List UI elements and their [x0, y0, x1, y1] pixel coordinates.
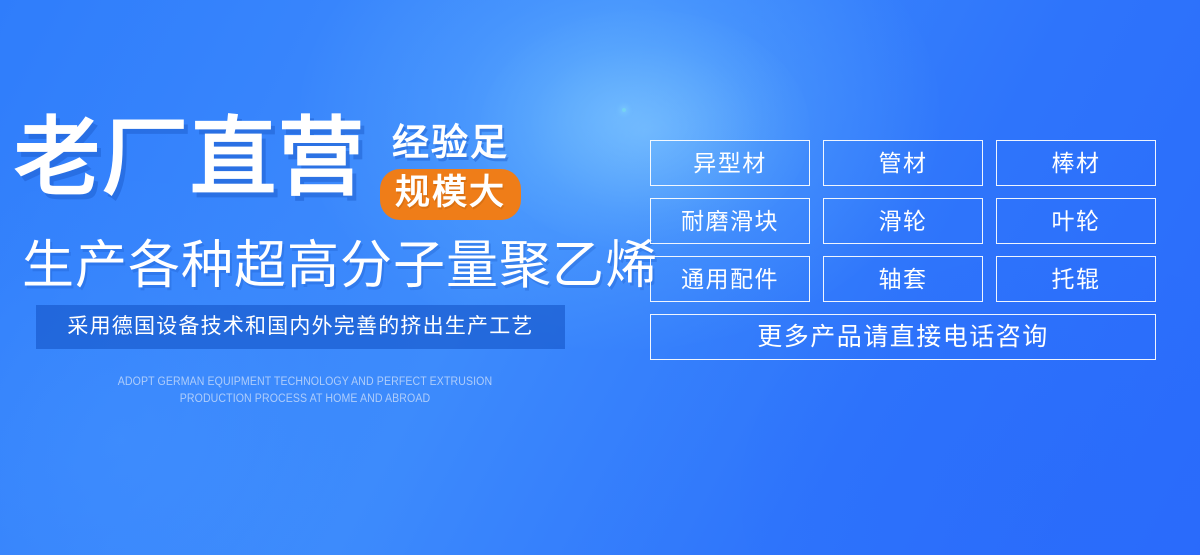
product-button-naimohuakuai[interactable]: 耐磨滑块: [650, 198, 810, 244]
product-button-hualun[interactable]: 滑轮: [823, 198, 983, 244]
headline-main: 老厂直营: [14, 112, 366, 204]
headline-block: 老厂直营 经验足 规模大 生产各种超高分子量聚乙烯 采用德国设备技术和国内外完善…: [0, 0, 610, 555]
product-label: 叶轮: [1052, 208, 1101, 234]
badge-group: 经验足 规模大: [380, 122, 521, 220]
product-label: 棒材: [1052, 150, 1101, 176]
badge-scale: 规模大: [380, 169, 521, 220]
product-label: 管材: [879, 150, 928, 176]
product-button-tuogun[interactable]: 托辊: [996, 256, 1156, 302]
product-label: 异型材: [693, 150, 767, 176]
product-label: 滑轮: [879, 208, 928, 234]
product-label: 耐磨滑块: [681, 208, 779, 234]
product-label: 轴套: [879, 266, 928, 292]
product-button-tongyongpeijian[interactable]: 通用配件: [650, 256, 810, 302]
product-button-zhoutao[interactable]: 轴套: [823, 256, 983, 302]
english-tagline-line2: PRODUCTION PROCESS AT HOME AND ABROAD: [24, 391, 585, 408]
headline-subtitle: 生产各种超高分子量聚乙烯: [22, 236, 658, 296]
product-button-yelun[interactable]: 叶轮: [996, 198, 1156, 244]
product-button-guancai[interactable]: 管材: [823, 140, 983, 186]
tagline-text: 采用德国设备技术和国内外完善的挤出生产工艺: [67, 315, 533, 339]
product-button-bangcai[interactable]: 棒材: [996, 140, 1156, 186]
product-grid: 异型材 管材 棒材 耐磨滑块 滑轮 叶轮 通用配件: [650, 140, 1156, 360]
english-tagline-line1: ADOPT GERMAN EQUIPMENT TECHNOLOGY AND PE…: [24, 374, 585, 391]
product-row: 耐磨滑块 滑轮 叶轮: [650, 198, 1156, 244]
product-label: 托辊: [1052, 266, 1101, 292]
promo-banner: 老厂直营 经验足 规模大 生产各种超高分子量聚乙烯 采用德国设备技术和国内外完善…: [0, 0, 1200, 555]
product-row: 异型材 管材 棒材: [650, 140, 1156, 186]
product-row-footer: 更多产品请直接电话咨询: [650, 314, 1156, 360]
more-products-label: 更多产品请直接电话咨询: [757, 323, 1049, 351]
badge-experience: 经验足: [392, 122, 509, 164]
english-tagline: ADOPT GERMAN EQUIPMENT TECHNOLOGY AND PE…: [24, 374, 585, 408]
headline-row: 老厂直营 经验足 规模大: [14, 112, 521, 220]
more-products-contact-button[interactable]: 更多产品请直接电话咨询: [650, 314, 1156, 360]
product-label: 通用配件: [681, 266, 779, 292]
product-row: 通用配件 轴套 托辊: [650, 256, 1156, 302]
product-button-yixingcai[interactable]: 异型材: [650, 140, 810, 186]
sparkle-dot-icon: [622, 108, 626, 112]
tagline-bar: 采用德国设备技术和国内外完善的挤出生产工艺: [36, 305, 565, 349]
